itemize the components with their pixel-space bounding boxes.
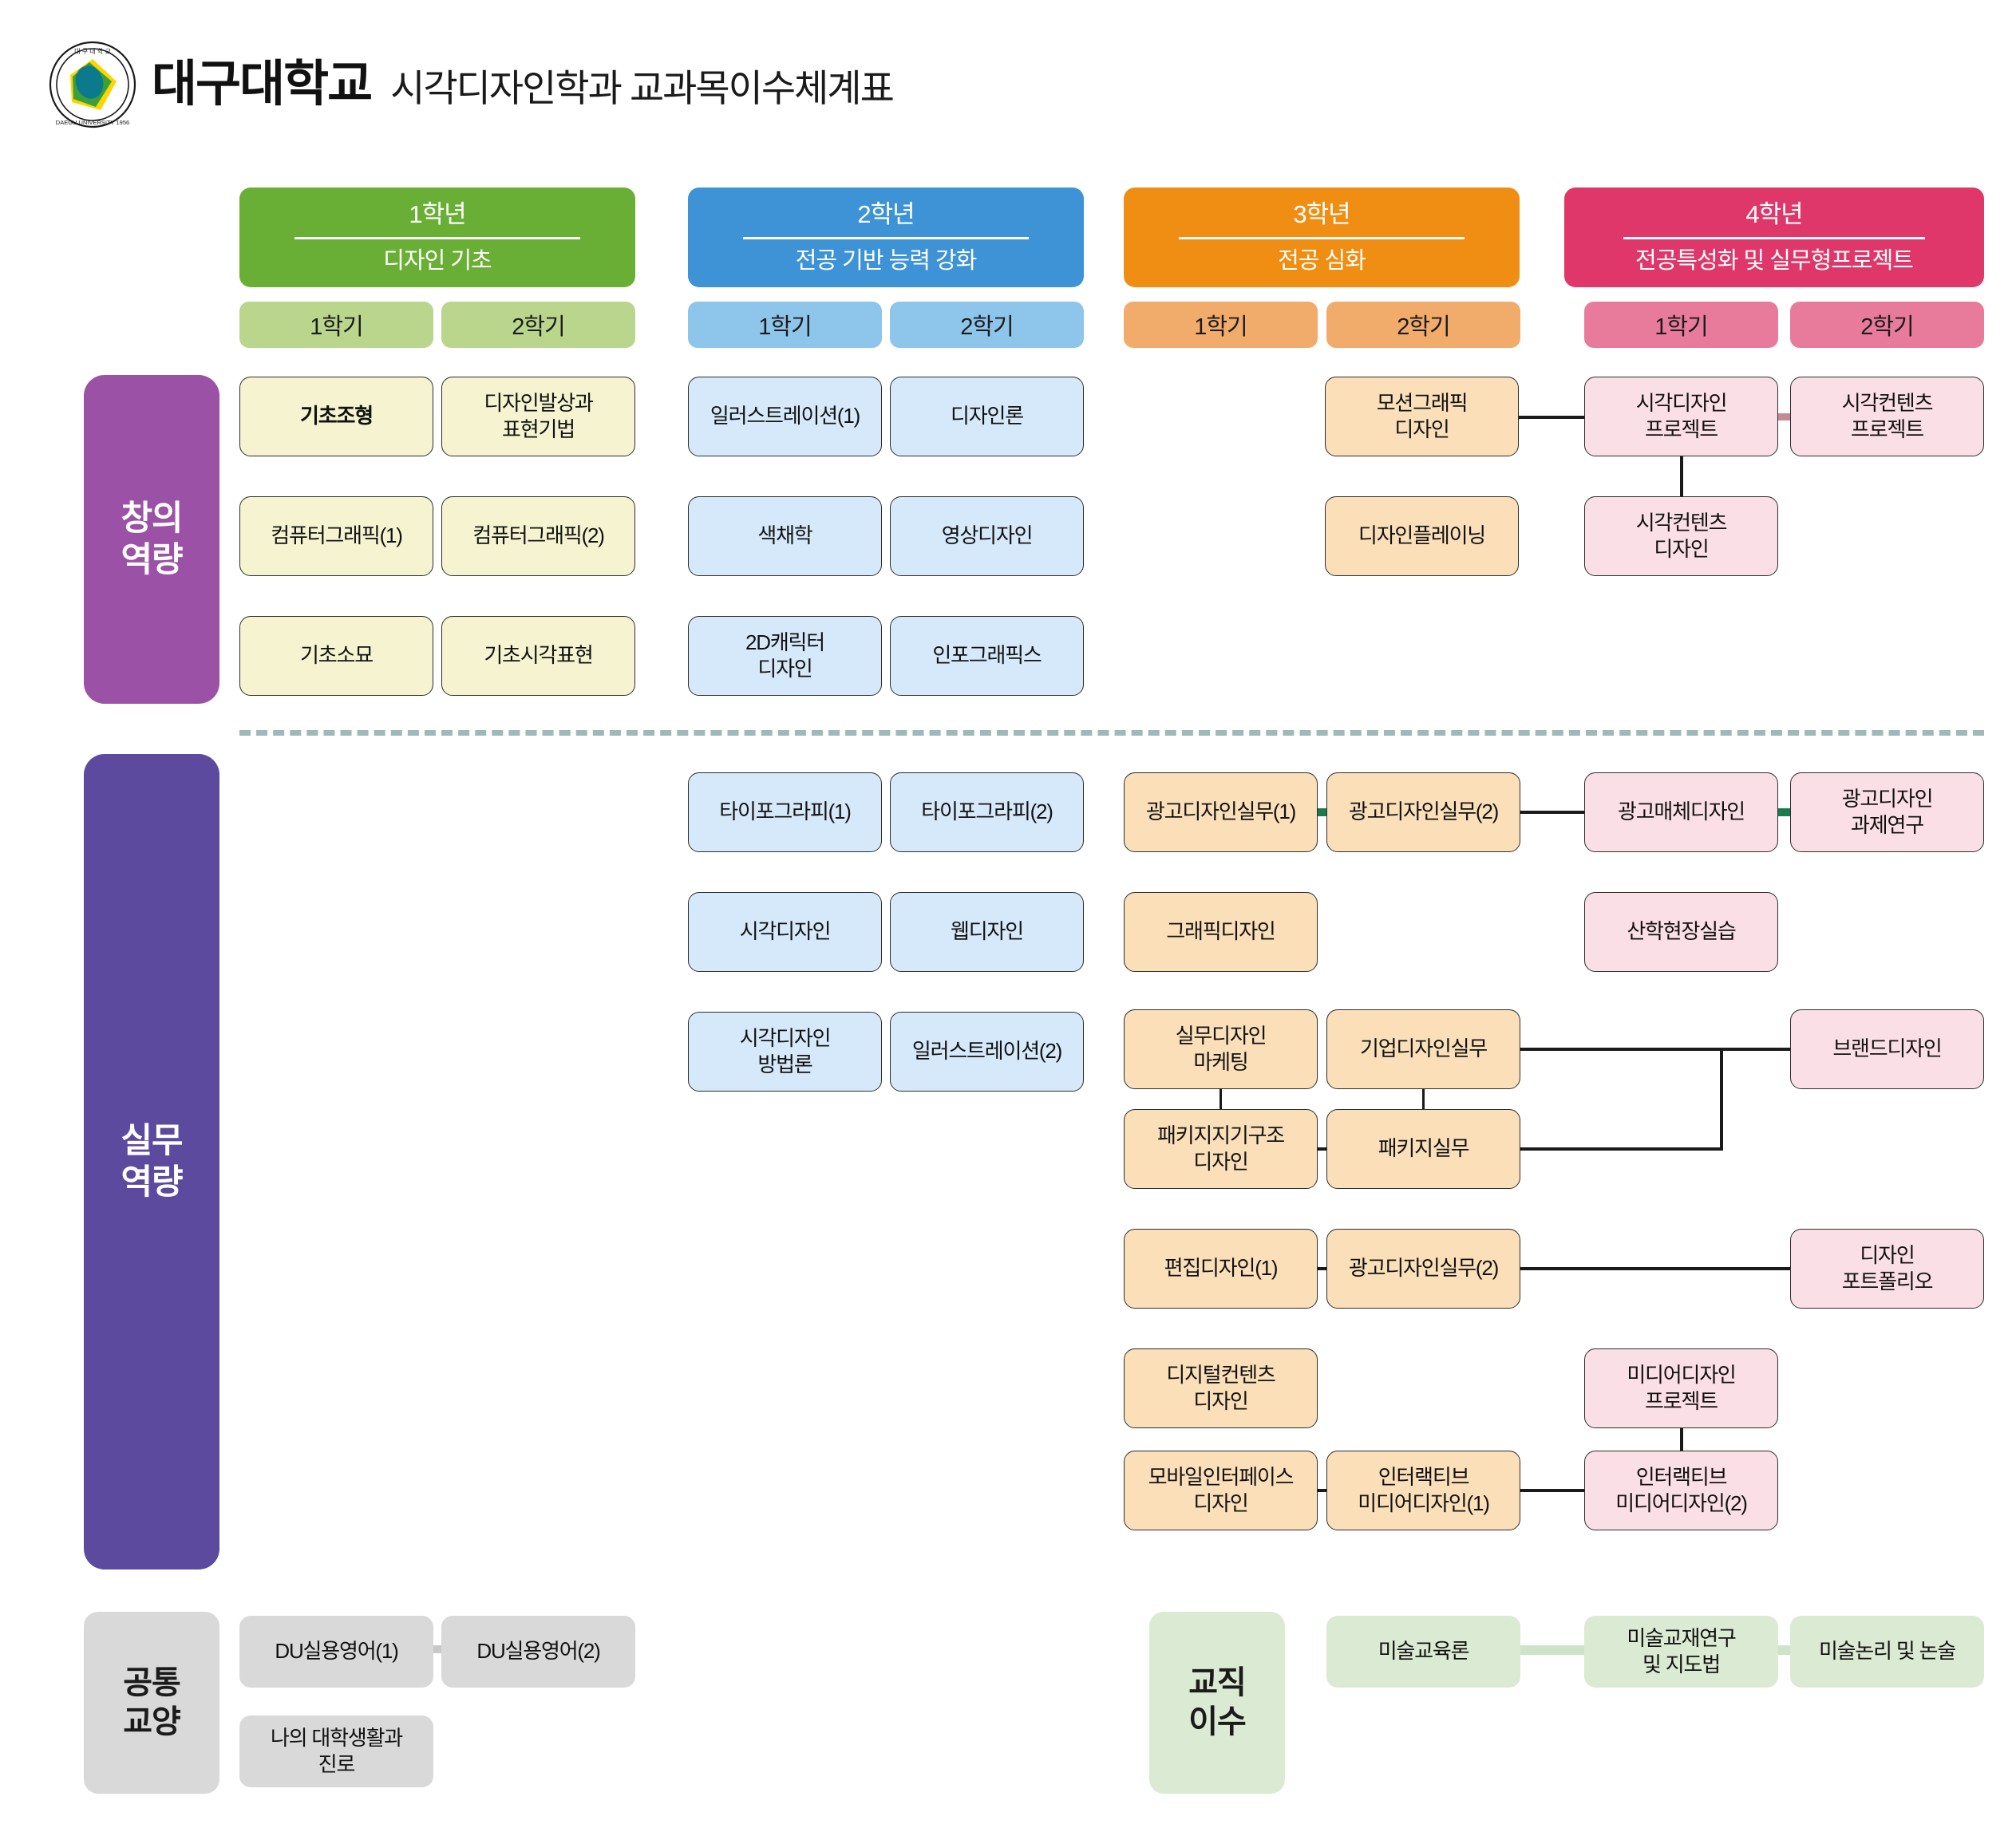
course-box-label: 기초시각표현 [484,642,592,669]
connector-corporate-right [1520,1048,1722,1051]
divider-rule [1623,237,1926,239]
course-box[interactable]: 인터랙티브 미디어디자인(1) [1326,1451,1520,1530]
course-box-label: 브랜드디자인 [1832,1036,1941,1062]
svg-text:대 구 대 학 교: 대 구 대 학 교 [74,47,111,55]
course-box-label: 미디어디자인 프로젝트 [1627,1362,1735,1415]
course-box[interactable]: 미디어디자인 프로젝트 [1584,1348,1778,1428]
course-box-label: 디지털컨텐츠 디자인 [1166,1362,1275,1415]
course-box-label: 디자인론 [951,403,1023,429]
course-box-label: 그래픽디자인 [1166,918,1275,945]
course-box[interactable]: 영상디자인 [890,496,1084,576]
connector-interactive1-to-interactive2 [1520,1489,1584,1492]
course-box[interactable]: 디지털컨텐츠 디자인 [1124,1348,1318,1428]
course-box-label: 광고매체디자인 [1618,799,1745,825]
course-box-label: 디자인플레이닝 [1358,523,1485,549]
course-box-label: 웹디자인 [951,918,1023,945]
course-box-label: 2D캐릭터 디자인 [745,630,824,683]
competency-label-line2: 역량 [121,539,182,581]
course-box-label: 타이포그라피(1) [719,799,851,825]
course-box-label: 컴퓨터그래픽(2) [472,523,604,549]
divider-rule [1179,237,1464,239]
course-box-label: 인터랙티브 미디어디자인(1) [1358,1464,1489,1518]
year-theme: 전공 심화 [1278,247,1366,275]
course-box-label: 실무디자인 마케팅 [1176,1023,1267,1076]
divider-rule [743,237,1028,239]
year-label: 3학년 [1293,199,1350,231]
competency-bar-general: 공통 교양 [84,1612,219,1794]
semester-pill-y3s2[interactable]: 2학기 [1326,302,1520,348]
course-box[interactable]: 기초소묘 [239,616,433,696]
competency-label-line2: 역량 [121,1162,182,1203]
course-box-label: 색채학 [757,523,812,549]
connector-ad2-to-admedia [1520,811,1584,814]
year-theme: 디자인 기초 [383,247,491,275]
course-box-label: 인포그래픽스 [932,642,1041,669]
connector-mediaproject-to-interactive2 [1680,1428,1683,1451]
course-box-label: 미술교재연구 및 지도법 [1627,1625,1735,1679]
year-header-2[interactable]: 2학년 전공 기반 능력 강화 [688,188,1084,287]
course-box[interactable]: 2D캐릭터 디자인 [688,616,882,696]
course-box-label: 모바일인터페이스 디자인 [1148,1464,1294,1518]
course-box-label: 광고디자인 과제연구 [1842,786,1933,839]
course-box[interactable]: 디자인플레이닝 [1325,496,1519,576]
course-box-label: 기초조형 [300,403,373,429]
course-box[interactable]: 브랜드디자인 [1790,1009,1984,1089]
course-box[interactable]: 인터랙티브 미디어디자인(2) [1584,1451,1778,1530]
course-box[interactable]: 패키지실무 [1326,1109,1520,1189]
course-box-label: 기업디자인실무 [1360,1036,1487,1062]
semester-pill-y4s1[interactable]: 1학기 [1584,302,1778,348]
year-header-1[interactable]: 1학년 디자인 기초 [239,188,635,287]
page-title-document: 시각디자인학과 교과목이수체계표 [385,63,893,107]
connector-corporate-to-packagepractice [1422,1089,1425,1109]
course-box[interactable]: 시각컨텐츠 디자인 [1584,496,1778,576]
section-divider [239,730,1984,736]
course-box[interactable]: 컴퓨터그래픽(2) [441,496,635,576]
course-box[interactable]: 기업디자인실무 [1326,1009,1520,1089]
course-box-label: 시각컨텐츠 디자인 [1636,510,1727,563]
competency-bar-practical: 실무 역량 [84,754,219,1569]
course-box-label: 일러스트레이션(2) [912,1038,1061,1064]
course-box[interactable]: 패키지지기구조 디자인 [1124,1109,1318,1189]
course-box-label: 모션그래픽 디자인 [1377,390,1468,444]
course-box[interactable]: 웹디자인 [890,892,1084,972]
course-box[interactable]: 시각디자인 방법론 [688,1012,882,1092]
course-box-label: DU실용영어(2) [476,1638,599,1664]
course-box-label: 타이포그라피(2) [921,799,1053,825]
course-box[interactable]: 광고디자인실무(1) [1124,772,1318,852]
course-box-label: 일러스트레이션(1) [710,403,860,429]
course-box[interactable]: 시각디자인 프로젝트 [1584,377,1778,456]
course-box[interactable]: 산학현장실습 [1584,892,1778,972]
year-label: 2학년 [857,199,914,231]
course-box-label: 미술논리 및 논술 [1819,1638,1955,1664]
course-box[interactable]: 일러스트레이션(2) [890,1012,1084,1092]
course-box-label: 광고디자인실무(2) [1349,1255,1498,1281]
course-box[interactable]: 일러스트레이션(1) [688,377,882,456]
competency-label-line2: 교양 [123,1703,180,1742]
course-box-label: 미술교육론 [1378,1638,1469,1664]
connector-artmaterial-to-artlogic [1778,1645,1790,1655]
course-box-label: 패키지실무 [1378,1135,1469,1162]
course-box-label: DU실용영어(1) [275,1638,397,1664]
semester-pill-y3s1[interactable]: 1학기 [1124,302,1318,348]
semester-pill-y1s1[interactable]: 1학기 [239,302,433,348]
competency-label-line1: 실무 [121,1120,182,1162]
svg-text:DAEGU UNIVERSITY 1956: DAEGU UNIVERSITY 1956 [56,119,129,126]
course-box[interactable]: 나의 대학생활과 진로 [239,1716,433,1787]
connector-visualproject-to-contentsdesign [1680,456,1683,496]
competency-label-line2: 이수 [1188,1703,1246,1742]
course-box[interactable]: 기초조형 [239,377,433,456]
course-box-label: 디자인발상과 표현기법 [484,390,592,444]
year-label: 4학년 [1745,199,1802,231]
year-label: 1학년 [409,199,465,231]
page-title-university: 대구대학교 [152,60,371,109]
connector-ad2b-to-portfolio [1520,1267,1790,1270]
connector-arteducation-to-artmaterial [1520,1645,1584,1655]
connector-marketing-to-package [1219,1089,1222,1109]
course-box[interactable]: 광고매체디자인 [1584,772,1778,852]
course-box[interactable]: 디자인발상과 표현기법 [441,377,635,456]
connector-visualproject-to-contentsproject [1778,413,1790,420]
course-box-label: 인터랙티브 미디어디자인(2) [1615,1464,1747,1518]
course-box[interactable]: 모션그래픽 디자인 [1325,377,1519,456]
course-box-label: 산학현장실습 [1627,918,1735,945]
course-box[interactable]: 디자인 포트폴리오 [1790,1229,1984,1309]
course-box-label: 광고디자인실무(1) [1146,799,1295,825]
course-box[interactable]: DU실용영어(1) [239,1616,433,1688]
course-box[interactable]: 타이포그라피(2) [890,772,1084,852]
connector-brand-vertical-join [1720,1048,1723,1151]
year-header-3[interactable]: 3학년 전공 심화 [1124,188,1520,287]
course-box[interactable]: 그래픽디자인 [1124,892,1318,972]
year-header-4[interactable]: 4학년 전공특성화 및 실무형프로젝트 [1564,188,1984,287]
course-box[interactable]: 모바일인터페이스 디자인 [1124,1451,1318,1530]
competency-label-line1: 창의 [121,498,182,539]
course-box-label: 편집디자인(1) [1164,1255,1278,1281]
course-box-label: 디자인 포트폴리오 [1842,1242,1933,1296]
course-box-label: 영상디자인 [942,523,1033,549]
course-box[interactable]: 광고디자인실무(2) [1326,772,1520,852]
daegu-university-emblem-icon: 대 구 대 학 교 DAEGU UNIVERSITY 1956 [48,40,137,129]
divider-rule [294,237,579,239]
course-box[interactable]: 시각디자인 [688,892,882,972]
course-box[interactable]: 광고디자인 과제연구 [1790,772,1984,852]
year-theme: 전공 기반 능력 강화 [796,247,977,275]
connector-motion-to-visualproject [1519,416,1584,419]
course-box[interactable]: 미술교육론 [1326,1616,1520,1688]
course-box[interactable]: DU실용영어(2) [441,1616,635,1688]
competency-bar-teaching: 교직 이수 [1149,1612,1285,1794]
competency-label-line1: 공통 [123,1664,180,1703]
connector-join-to-brand [1720,1048,1790,1051]
year-theme: 전공특성화 및 실무형프로젝트 [1635,247,1913,275]
course-box[interactable]: 광고디자인실무(2) [1326,1229,1520,1309]
course-box-label: 컴퓨터그래픽(1) [271,523,402,549]
page-header: 대 구 대 학 교 DAEGU UNIVERSITY 1956 대구대학교 시각… [48,40,893,129]
semester-pill-y4s2[interactable]: 2학기 [1790,302,1984,348]
competency-label-line1: 교직 [1188,1664,1246,1703]
course-box-label: 패키지지기구조 디자인 [1157,1123,1284,1176]
semester-pill-y1s2[interactable]: 2학기 [441,302,635,348]
course-box-label: 시각디자인 [740,918,831,945]
competency-bar-creative: 창의 역량 [84,375,219,704]
course-box[interactable]: 편집디자인(1) [1124,1229,1318,1309]
connector-admedia-to-adresearch [1778,808,1790,816]
connector-packagepractice-right [1520,1147,1722,1151]
course-box-label: 광고디자인실무(2) [1349,799,1498,825]
course-box[interactable]: 타이포그라피(1) [688,772,882,852]
course-box[interactable]: 미술논리 및 논술 [1790,1616,1984,1688]
course-box[interactable]: 인포그래픽스 [890,616,1084,696]
course-box-label: 시각디자인 프로젝트 [1636,390,1727,444]
semester-pill-y2s2[interactable]: 2학기 [890,302,1084,348]
course-box[interactable]: 시각컨텐츠 프로젝트 [1790,377,1984,456]
course-box[interactable]: 실무디자인 마케팅 [1124,1009,1318,1089]
course-box[interactable]: 기초시각표현 [441,616,635,696]
course-box[interactable]: 디자인론 [890,377,1084,456]
semester-pill-y2s1[interactable]: 1학기 [688,302,882,348]
course-box-label: 기초소묘 [300,642,373,669]
course-box-label: 시각컨텐츠 프로젝트 [1842,390,1933,444]
course-box-label: 나의 대학생활과 진로 [271,1725,402,1779]
course-box-label: 시각디자인 방법론 [740,1025,831,1079]
course-box[interactable]: 컴퓨터그래픽(1) [239,496,433,576]
course-box[interactable]: 색채학 [688,496,882,576]
course-box[interactable]: 미술교재연구 및 지도법 [1584,1616,1778,1688]
